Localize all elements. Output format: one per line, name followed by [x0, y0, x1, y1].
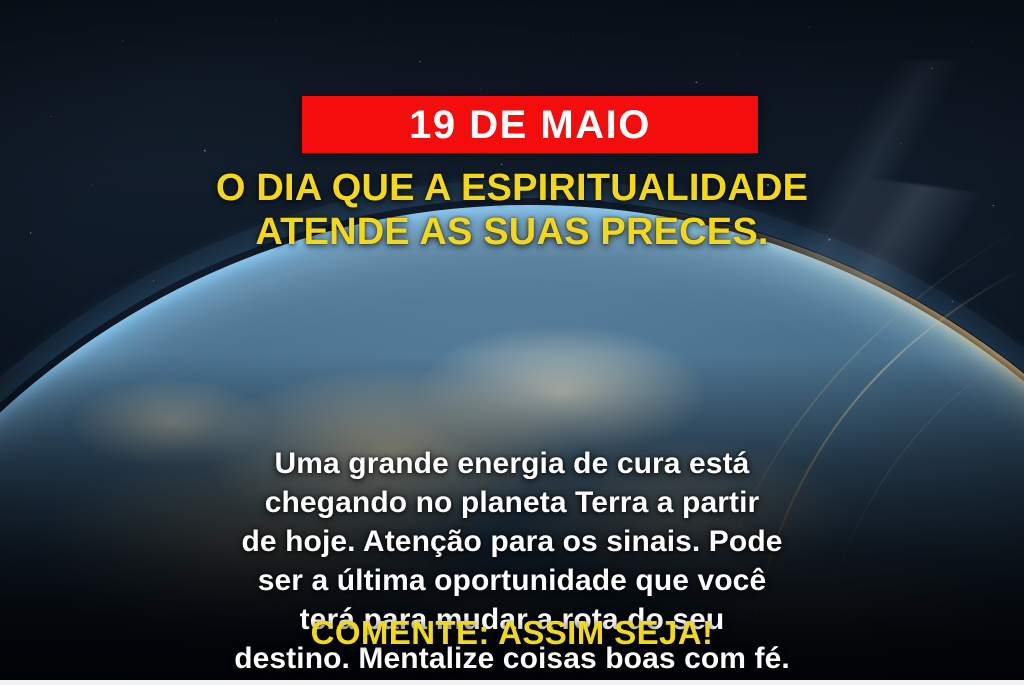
call-to-action-text: COMENTE: ASSIM SEJA! — [0, 615, 1024, 651]
bottom-edge-strip — [0, 680, 1024, 685]
body-line-3: de hoje. Atenção para os sinais. Pode — [56, 522, 968, 561]
date-banner-text: 19 DE MAIO — [409, 105, 651, 145]
date-banner: 19 DE MAIO — [302, 96, 758, 153]
body-line-2: chegando no planeta Terra a partir — [56, 483, 968, 522]
headline-line-1: O DIA QUE A ESPIRITUALIDADE — [52, 166, 972, 210]
headline-line-2: ATENDE AS SUAS PRECES. — [52, 210, 972, 254]
headline: O DIA QUE A ESPIRITUALIDADE ATENDE AS SU… — [0, 166, 1024, 254]
poster-content: 19 DE MAIO O DIA QUE A ESPIRITUALIDADE A… — [0, 0, 1024, 685]
body-line-1: Uma grande energia de cura está — [56, 444, 968, 483]
poster-image: 19 DE MAIO O DIA QUE A ESPIRITUALIDADE A… — [0, 0, 1024, 685]
body-line-4: ser a última oportunidade que você — [56, 561, 968, 600]
